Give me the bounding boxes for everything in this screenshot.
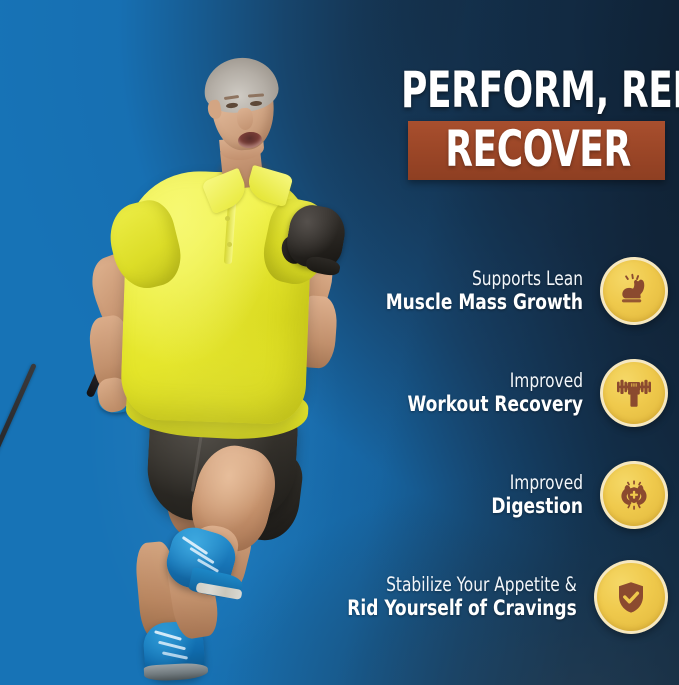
benefit-row-muscle-mass: Supports Lean Muscle Mass Growth	[330, 240, 668, 342]
benefit-row-digestion: Improved Digestion	[330, 444, 668, 546]
benefit-row-appetite-cravings: Stabilize Your Appetite & Rid Yourself o…	[330, 546, 668, 648]
benefit-line-1: Improved	[360, 370, 583, 392]
benefits-list: Supports Lean Muscle Mass Growth	[330, 240, 668, 648]
benefit-line-2: Digestion	[360, 494, 583, 519]
benefit-line-2: Rid Yourself of Cravings	[348, 596, 577, 621]
benefit-text: Supports Lean Muscle Mass Growth	[330, 268, 600, 315]
running-golfer-photo	[20, 34, 350, 679]
benefit-line-2: Workout Recovery	[360, 392, 583, 417]
supplement-benefits-banner: PERFORM, REPAIR RECOVER Supports Lean Mu…	[0, 0, 679, 685]
figure-shirt-button	[225, 216, 230, 221]
shield-check-icon	[611, 577, 651, 617]
icon-circle	[603, 464, 665, 526]
benefit-line-1: Supports Lean	[360, 268, 583, 290]
benefit-icon-badge	[600, 461, 668, 529]
stomach-shield-plus-icon	[613, 474, 655, 516]
benefit-icon-badge	[600, 359, 668, 427]
recover-highlight-box: RECOVER	[408, 121, 665, 180]
figure-shirt-button	[227, 242, 232, 247]
benefit-line-2: Muscle Mass Growth	[360, 290, 583, 315]
benefit-line-1: Improved	[360, 472, 583, 494]
benefit-line-1: Stabilize Your Appetite &	[348, 574, 577, 596]
benefit-text: Stabilize Your Appetite & Rid Yourself o…	[316, 574, 594, 621]
headline-block: PERFORM, REPAIR RECOVER	[335, 64, 665, 180]
headline-line-2: RECOVER	[445, 124, 631, 174]
benefit-text: Improved Digestion	[330, 472, 600, 519]
flexed-bicep-icon	[614, 271, 654, 311]
fist-dumbbell-icon	[614, 373, 654, 413]
figure-lower-shoe-sole	[144, 662, 209, 681]
icon-circle	[597, 563, 665, 631]
benefit-row-workout-recovery: Improved Workout Recovery	[330, 342, 668, 444]
icon-circle	[603, 362, 665, 424]
headline-line-1: PERFORM, REPAIR	[401, 64, 665, 116]
benefit-icon-badge	[594, 560, 668, 634]
icon-circle	[603, 260, 665, 322]
benefit-icon-badge	[600, 257, 668, 325]
benefit-text: Improved Workout Recovery	[330, 370, 600, 417]
